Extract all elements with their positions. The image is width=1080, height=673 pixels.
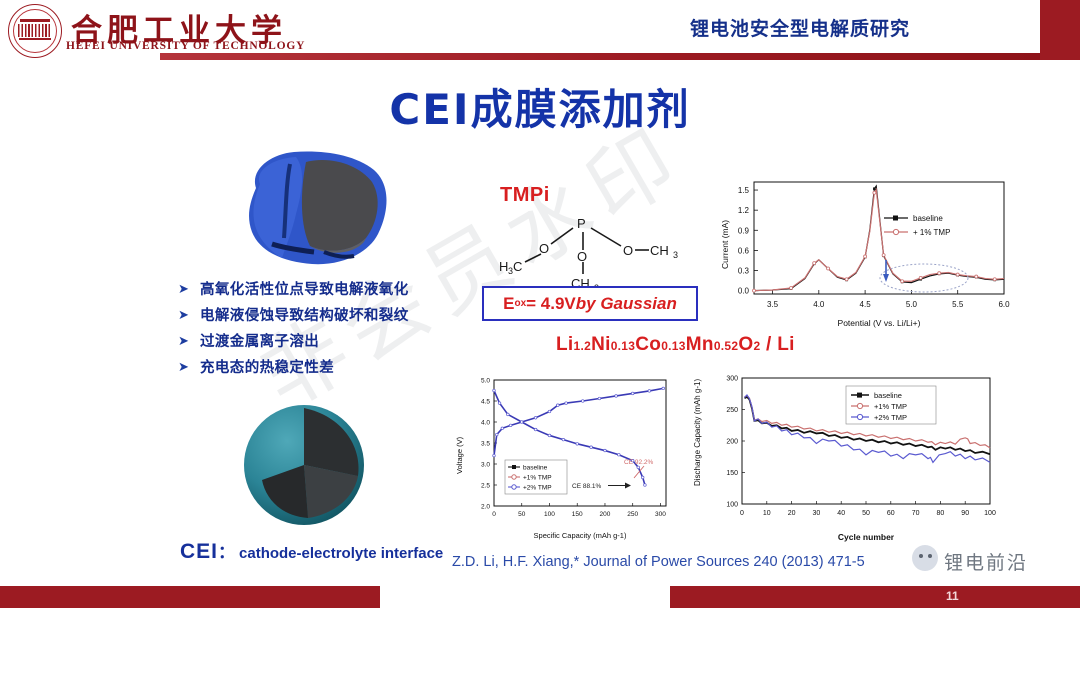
svg-text:200: 200 xyxy=(600,511,611,518)
svg-text:0: 0 xyxy=(740,510,744,517)
eox-subscript: ox xyxy=(514,298,526,309)
svg-text:4.0: 4.0 xyxy=(481,420,490,427)
cycling-performance-chart: 100150200250300 0102030405060708090100 b… xyxy=(686,364,1016,550)
coated-particle-illustration xyxy=(238,402,370,528)
svg-text:0.9: 0.9 xyxy=(738,226,750,235)
svg-text:150: 150 xyxy=(726,470,738,477)
panel-a-legend-marker-1 xyxy=(512,475,516,479)
svg-text:300: 300 xyxy=(655,511,666,518)
cei-definition: CEI：cathode-electrolyte interface xyxy=(180,538,443,564)
svg-text:0.0: 0.0 xyxy=(738,287,750,296)
svg-text:3.5: 3.5 xyxy=(481,441,490,448)
oxidation-potential-box: Eox = 4.9V by Gaussian xyxy=(482,286,698,321)
panel-a-legend-label-0: baseline xyxy=(523,465,548,472)
panel-b-legend-marker-1 xyxy=(857,403,862,408)
panel-b-legend-marker-0 xyxy=(857,393,862,398)
cv-plot-frame xyxy=(754,182,1004,294)
cv-legend-label-0: baseline xyxy=(913,214,943,223)
svg-text:300: 300 xyxy=(726,376,738,383)
panel-a-legend-label-1: +1% TMP xyxy=(523,475,552,482)
panel-a-x-label: Specific Capacity (mAh g-1) xyxy=(534,531,627,540)
formula-el: O xyxy=(738,334,753,355)
brand-logo-eye-right xyxy=(928,554,932,558)
svg-text:4.5: 4.5 xyxy=(860,300,872,309)
svg-text:5.0: 5.0 xyxy=(906,300,918,309)
formula-sub: 0.13 xyxy=(661,339,686,353)
panel-a-legend-marker-2 xyxy=(512,485,516,489)
bullet-arrow-icon: ➤ xyxy=(178,334,200,350)
formula-el: / Li xyxy=(760,334,794,355)
group-ch3-right: CH xyxy=(650,243,669,258)
svg-text:0: 0 xyxy=(492,511,496,518)
cei-full-form: cathode-electrolyte interface xyxy=(239,545,443,562)
atom-oxygen-1: O xyxy=(539,241,549,256)
bullet-arrow-icon: ➤ xyxy=(178,360,200,376)
panel-a-annotation-ce881: CE 88.1% xyxy=(572,483,601,490)
svg-text:2.5: 2.5 xyxy=(481,483,490,490)
page-title: CEI成膜添加剂 xyxy=(0,76,1080,137)
panel-a-annotation-ce922: CE 92.2% xyxy=(624,459,653,466)
panel-b-legend: baseline +1% TMP +2% TMP xyxy=(846,386,936,424)
panel-b-legend-label-1: +1% TMP xyxy=(874,402,907,411)
seal-base xyxy=(19,38,51,40)
panel-a-legend: baseline +1% TMP +2% TMP xyxy=(505,460,567,494)
bullet-arrow-icon: ➤ xyxy=(178,282,200,298)
svg-text:60: 60 xyxy=(887,510,895,517)
eox-value: = 4.9V xyxy=(526,294,576,314)
panel-a-y-label: Voltage (V) xyxy=(455,436,464,474)
brand-logo-eye-left xyxy=(919,554,923,558)
svg-text:5.0: 5.0 xyxy=(481,378,490,385)
svg-text:250: 250 xyxy=(726,407,738,414)
bullet-text: 充电态的热稳定性差 xyxy=(200,360,334,376)
voltage-capacity-chart: 2.02.53.03.54.04.55.0 050100150200250300… xyxy=(448,366,680,548)
bullet-list: ➤ 高氧化活性位点导致电解液氧化 ➤ 电解液侵蚀导致结构破坏和裂纹 ➤ 过渡金属… xyxy=(178,282,478,386)
svg-text:50: 50 xyxy=(518,511,526,518)
svg-text:0.3: 0.3 xyxy=(738,267,750,276)
list-item: ➤ 过渡金属离子溶出 xyxy=(178,334,478,350)
panel-a-legend-label-2: +2% TMP xyxy=(523,485,552,492)
footer-gap xyxy=(380,586,670,608)
panel-a-legend-marker-0 xyxy=(512,465,516,469)
brand-logo-icon xyxy=(912,545,938,571)
header-title: 锂电池安全型电解质研究 xyxy=(600,14,1000,41)
formula-sub: 0.13 xyxy=(611,339,636,353)
atom-oxygen-2: O xyxy=(577,249,587,264)
seal-icon xyxy=(8,4,62,58)
svg-text:10: 10 xyxy=(763,510,771,517)
formula-el: Co xyxy=(635,334,661,355)
atom-oxygen-3: O xyxy=(623,243,633,258)
cyclic-voltammetry-chart: 0.00.30.60.91.21.5 3.54.04.55.05.56.0 ba… xyxy=(716,174,1016,334)
bullet-text: 高氧化活性位点导致电解液氧化 xyxy=(200,282,409,298)
brand-watermark-text: 锂电前沿 xyxy=(944,548,1028,575)
svg-text:1.5: 1.5 xyxy=(738,186,750,195)
list-item: ➤ 电解液侵蚀导致结构破坏和裂纹 xyxy=(178,308,478,324)
panel-b-legend-marker-2 xyxy=(857,414,862,419)
svg-text:5.5: 5.5 xyxy=(952,300,964,309)
svg-text:40: 40 xyxy=(837,510,845,517)
group-ch3-right-sub: 3 xyxy=(673,250,678,260)
formula-el: Li xyxy=(556,334,574,355)
svg-text:100: 100 xyxy=(726,502,738,509)
svg-text:1.2: 1.2 xyxy=(738,206,750,215)
bond-p-o3 xyxy=(591,228,621,246)
cv-y-axis-label: Current (mA) xyxy=(720,220,730,269)
cei-colon: ： xyxy=(218,543,235,562)
bullet-arrow-icon: ➤ xyxy=(178,308,200,324)
bond-p-o1 xyxy=(551,228,573,244)
header-accent-cap xyxy=(1040,0,1080,60)
list-item: ➤ 充电态的热稳定性差 xyxy=(178,360,478,376)
header-accent-bar xyxy=(160,53,1040,60)
cei-abbr: CEI xyxy=(180,540,218,563)
svg-text:30: 30 xyxy=(813,510,821,517)
formula-el: Mn xyxy=(686,334,714,355)
seal-roof xyxy=(20,19,50,22)
svg-text:50: 50 xyxy=(862,510,870,517)
cracked-particle-illustration xyxy=(236,148,396,268)
svg-text:100: 100 xyxy=(544,511,555,518)
seal-columns xyxy=(18,24,52,37)
svg-text:3.5: 3.5 xyxy=(767,300,779,309)
formula-el: Ni xyxy=(591,334,611,355)
svg-text:250: 250 xyxy=(627,511,638,518)
cv-legend-marker-1 xyxy=(893,229,898,234)
svg-text:4.5: 4.5 xyxy=(481,399,490,406)
svg-text:150: 150 xyxy=(572,511,583,518)
group-ch3-left-c: C xyxy=(513,259,522,274)
group-ch3-left-h: H xyxy=(499,259,508,274)
slide-header: 合肥工业大学 HEFEI UNIVERSITY OF TECHNOLOGY 锂电… xyxy=(0,0,1080,60)
atom-phosphorus: P xyxy=(577,216,586,231)
university-name-en: HEFEI UNIVERSITY OF TECHNOLOGY xyxy=(66,40,305,52)
page-number: 11 xyxy=(946,589,959,603)
svg-text:2.0: 2.0 xyxy=(481,504,490,511)
panel-b-y-label: Discharge Capacity (mAh g-1) xyxy=(693,379,702,486)
cv-legend-marker-0 xyxy=(893,216,898,221)
svg-text:4.0: 4.0 xyxy=(813,300,825,309)
cv-x-axis-label: Potential (V vs. Li/Li+) xyxy=(838,318,921,328)
svg-text:90: 90 xyxy=(961,510,969,517)
bullet-text: 电解液侵蚀导致结构破坏和裂纹 xyxy=(200,308,409,324)
citation-text: Z.D. Li, H.F. Xiang,* Journal of Power S… xyxy=(452,554,865,570)
panel-b-legend-label-2: +2% TMP xyxy=(874,413,907,422)
svg-text:6.0: 6.0 xyxy=(998,300,1010,309)
svg-text:20: 20 xyxy=(788,510,796,517)
eox-symbol: E xyxy=(503,294,514,314)
formula-sub: 1.2 xyxy=(574,339,592,353)
bullet-text: 过渡金属离子溶出 xyxy=(200,334,319,350)
svg-text:100: 100 xyxy=(984,510,996,517)
list-item: ➤ 高氧化活性位点导致电解液氧化 xyxy=(178,282,478,298)
tmpi-structure-diagram: P O O O H 3 C CH 3 CH 3 xyxy=(495,198,710,293)
svg-text:70: 70 xyxy=(912,510,920,517)
panel-b-x-label: Cycle number xyxy=(838,532,895,542)
cv-legend-label-1: + 1% TMP xyxy=(913,228,950,237)
svg-text:80: 80 xyxy=(937,510,945,517)
svg-text:0.6: 0.6 xyxy=(738,246,750,255)
svg-text:3.0: 3.0 xyxy=(481,462,490,469)
cathode-formula: Li1.2Ni0.13Co0.13Mn0.52O2 / Li xyxy=(556,334,795,356)
svg-text:200: 200 xyxy=(726,439,738,446)
eox-method: by Gaussian xyxy=(576,294,677,314)
panel-b-legend-label-0: baseline xyxy=(874,391,902,400)
formula-sub: 0.52 xyxy=(714,339,739,353)
